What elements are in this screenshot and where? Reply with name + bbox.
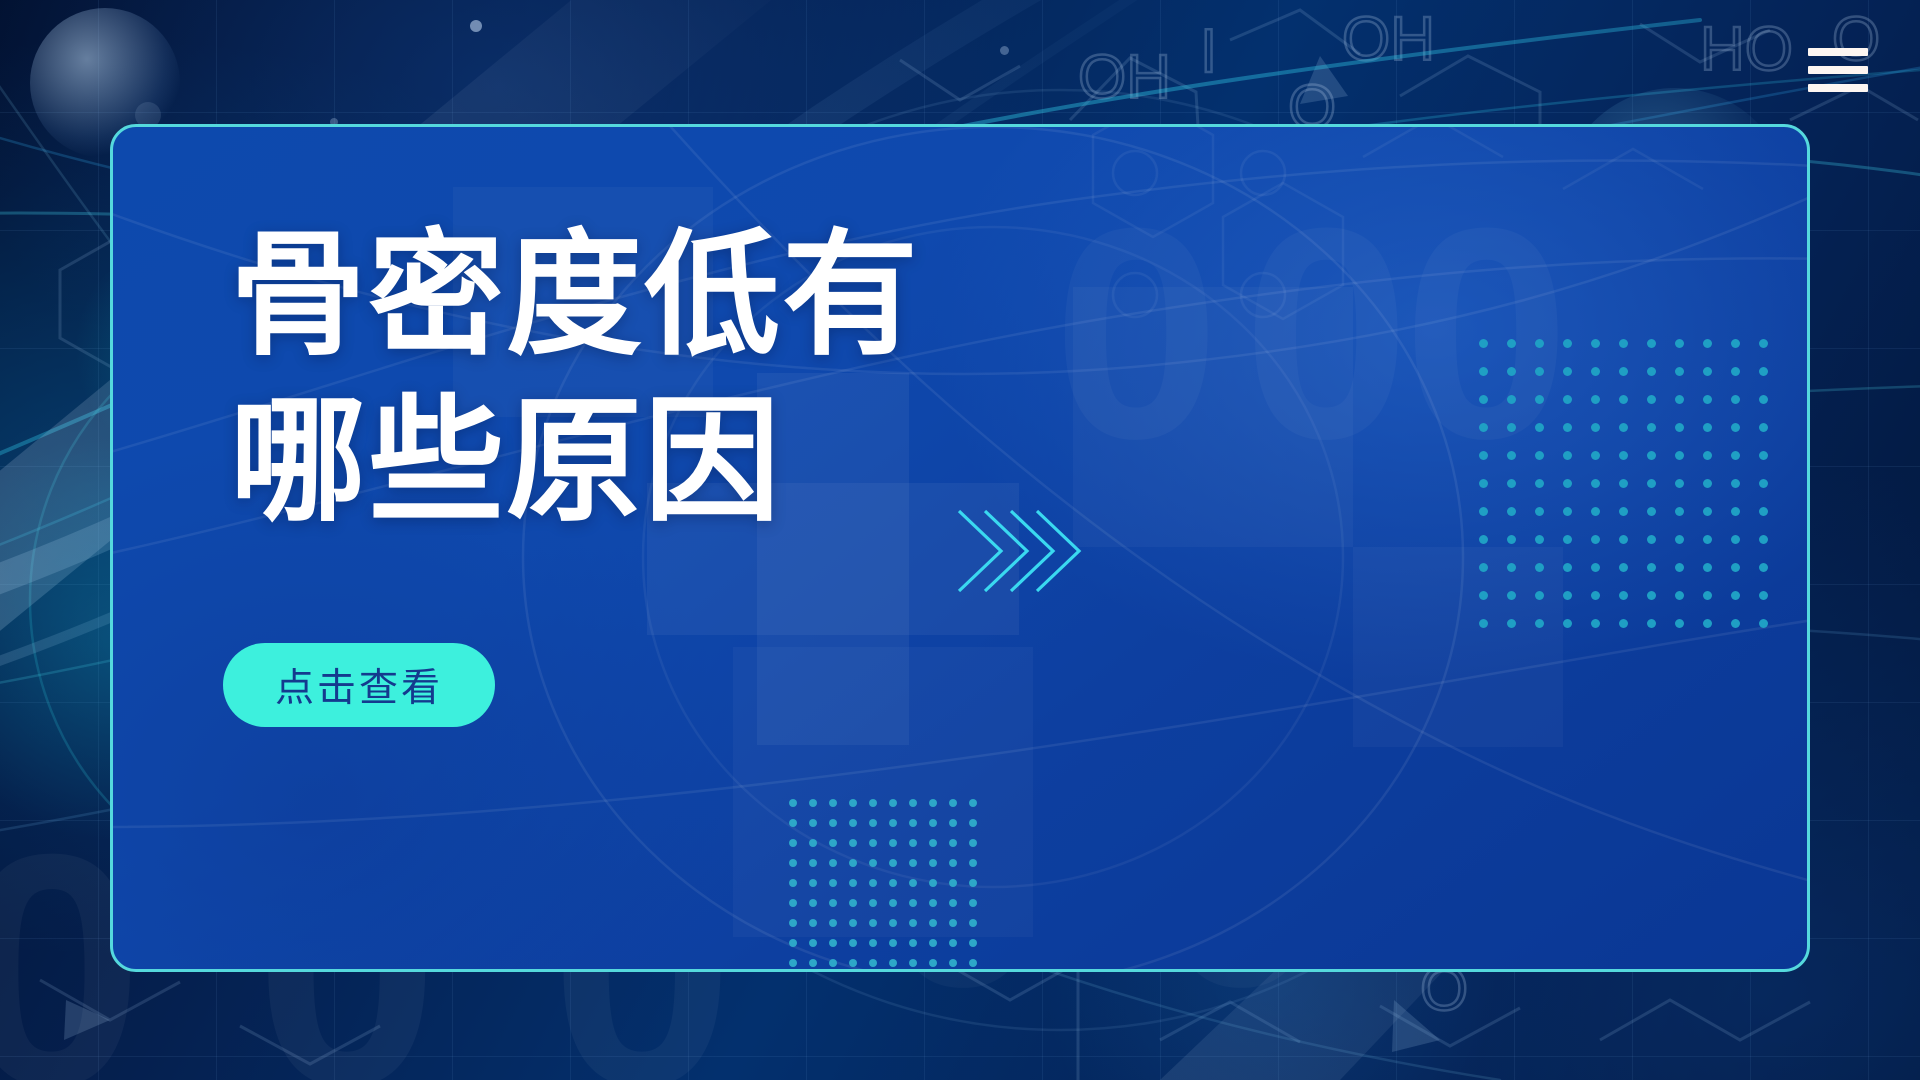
- dot: [909, 959, 917, 967]
- dot: [909, 859, 917, 867]
- dot: [889, 819, 897, 827]
- dot: [1731, 423, 1740, 432]
- dot: [969, 819, 977, 827]
- dot: [1675, 619, 1684, 628]
- dot: [1759, 535, 1768, 544]
- dot: [789, 879, 797, 887]
- dot: [1563, 619, 1572, 628]
- dot: [1703, 619, 1712, 628]
- dot: [929, 959, 937, 967]
- dot: [969, 839, 977, 847]
- dot: [969, 899, 977, 907]
- dot: [969, 879, 977, 887]
- dot: [849, 899, 857, 907]
- dot: [929, 799, 937, 807]
- dot: [1647, 367, 1656, 376]
- dot: [809, 899, 817, 907]
- dot: [1591, 339, 1600, 348]
- dot: [1591, 395, 1600, 404]
- dot: [1619, 535, 1628, 544]
- hamburger-bar: [1808, 66, 1868, 74]
- dot: [1619, 451, 1628, 460]
- dot: [1619, 619, 1628, 628]
- dot: [949, 819, 957, 827]
- dot: [909, 899, 917, 907]
- dot: [869, 859, 877, 867]
- dot: [829, 899, 837, 907]
- dot: [829, 939, 837, 947]
- dot: [889, 939, 897, 947]
- dot: [949, 879, 957, 887]
- dot: [1731, 619, 1740, 628]
- dot: [1647, 619, 1656, 628]
- dot: [1703, 591, 1712, 600]
- dot: [949, 799, 957, 807]
- dot: [1479, 395, 1488, 404]
- dot: [969, 919, 977, 927]
- dot: [1703, 423, 1712, 432]
- slide-canvas: OH OH O I HO HO O O O: [0, 0, 1920, 1080]
- dot: [949, 839, 957, 847]
- dot: [1563, 339, 1572, 348]
- dot: [1507, 367, 1516, 376]
- dot: [949, 859, 957, 867]
- dot: [1507, 563, 1516, 572]
- dot: [929, 899, 937, 907]
- dot: [869, 799, 877, 807]
- dot: [1591, 591, 1600, 600]
- sparkle-dot: [1000, 46, 1009, 55]
- dot: [1619, 367, 1628, 376]
- dot: [1507, 507, 1516, 516]
- dot: [929, 819, 937, 827]
- dot: [849, 819, 857, 827]
- dot: [849, 859, 857, 867]
- dot: [1647, 451, 1656, 460]
- dot: [1647, 591, 1656, 600]
- dot: [1731, 563, 1740, 572]
- dot: [809, 799, 817, 807]
- dot: [1507, 395, 1516, 404]
- dot: [1731, 367, 1740, 376]
- dot: [1563, 507, 1572, 516]
- hamburger-bar: [1808, 84, 1868, 92]
- dot: [1619, 339, 1628, 348]
- dot: [909, 879, 917, 887]
- dot: [1759, 563, 1768, 572]
- dot: [1703, 563, 1712, 572]
- dot: [1759, 591, 1768, 600]
- dot: [1479, 507, 1488, 516]
- dot: [1731, 395, 1740, 404]
- dot: [1507, 479, 1516, 488]
- dot: [969, 939, 977, 947]
- dot: [949, 939, 957, 947]
- dot: [1647, 479, 1656, 488]
- dot: [1507, 451, 1516, 460]
- dot: [1703, 367, 1712, 376]
- dot: [1675, 451, 1684, 460]
- dot: [1535, 591, 1544, 600]
- dot: [849, 939, 857, 947]
- dot: [1675, 479, 1684, 488]
- dot: [809, 859, 817, 867]
- dot: [889, 919, 897, 927]
- dot: [809, 879, 817, 887]
- dot: [1591, 563, 1600, 572]
- dot: [1535, 395, 1544, 404]
- dot: [1647, 563, 1656, 572]
- svg-text:0: 0: [1053, 165, 1220, 501]
- dot: [1507, 339, 1516, 348]
- dot: [1703, 395, 1712, 404]
- dot: [789, 839, 797, 847]
- dot: [1591, 619, 1600, 628]
- dot: [1675, 395, 1684, 404]
- dot: [1675, 507, 1684, 516]
- dot: [1619, 395, 1628, 404]
- dot: [1647, 423, 1656, 432]
- dot: [829, 959, 837, 967]
- dot: [1675, 535, 1684, 544]
- dot: [889, 799, 897, 807]
- dot: [809, 939, 817, 947]
- dot: [1759, 423, 1768, 432]
- dot: [869, 819, 877, 827]
- dot: [1731, 507, 1740, 516]
- dot: [1703, 535, 1712, 544]
- dot: [829, 879, 837, 887]
- dot: [1759, 339, 1768, 348]
- dot: [1535, 339, 1544, 348]
- dot: [1619, 507, 1628, 516]
- dot: [1479, 619, 1488, 628]
- dot: [1591, 367, 1600, 376]
- dot: [889, 859, 897, 867]
- dot: [1759, 451, 1768, 460]
- dot: [789, 959, 797, 967]
- dot: [1703, 479, 1712, 488]
- dot: [829, 799, 837, 807]
- dot: [849, 879, 857, 887]
- dot: [929, 839, 937, 847]
- dot: [1675, 367, 1684, 376]
- dot: [869, 899, 877, 907]
- dot: [829, 839, 837, 847]
- dot: [1759, 507, 1768, 516]
- dot: [1479, 423, 1488, 432]
- dot: [949, 959, 957, 967]
- dot: [869, 839, 877, 847]
- dot: [949, 899, 957, 907]
- dot: [1535, 479, 1544, 488]
- dot: [1619, 423, 1628, 432]
- dot: [1591, 479, 1600, 488]
- dot: [809, 959, 817, 967]
- dot: [1591, 535, 1600, 544]
- page-title: 骨密度低有 哪些原因: [230, 213, 920, 545]
- dot: [1535, 367, 1544, 376]
- dot: [869, 879, 877, 887]
- dot: [889, 959, 897, 967]
- dot: [789, 899, 797, 907]
- dot: [969, 799, 977, 807]
- dot: [1647, 395, 1656, 404]
- dot: [829, 919, 837, 927]
- dot: [849, 959, 857, 967]
- dot: [1647, 507, 1656, 516]
- dot: [1563, 367, 1572, 376]
- dot: [1675, 339, 1684, 348]
- dot: [1535, 563, 1544, 572]
- dot: [1591, 507, 1600, 516]
- dot: [1479, 479, 1488, 488]
- dot: [849, 839, 857, 847]
- dot: [1759, 619, 1768, 628]
- dot: [1703, 507, 1712, 516]
- dot: [1591, 423, 1600, 432]
- dot: [789, 819, 797, 827]
- svg-text:I: I: [1200, 17, 1217, 86]
- dot: [1731, 339, 1740, 348]
- dot: [1479, 339, 1488, 348]
- sparkle-dot: [470, 20, 482, 32]
- dot: [1535, 535, 1544, 544]
- dot: [1731, 479, 1740, 488]
- dot: [1507, 591, 1516, 600]
- dot: [1479, 563, 1488, 572]
- dot: [889, 839, 897, 847]
- dot: [829, 859, 837, 867]
- dot: [829, 819, 837, 827]
- dot: [929, 859, 937, 867]
- dot: [929, 939, 937, 947]
- dot: [1731, 535, 1740, 544]
- dot: [969, 959, 977, 967]
- dot: [1563, 451, 1572, 460]
- dot: [809, 839, 817, 847]
- dot: [1563, 591, 1572, 600]
- dot: [1507, 535, 1516, 544]
- dot: [1535, 423, 1544, 432]
- dot: [1563, 563, 1572, 572]
- dot: [1563, 395, 1572, 404]
- dot: [1675, 563, 1684, 572]
- dot: [1563, 479, 1572, 488]
- dot: [789, 939, 797, 947]
- main-content-card: 0 0 0 骨密度低有 哪些原因 点击查看: [110, 124, 1810, 972]
- dot: [789, 859, 797, 867]
- view-details-button[interactable]: 点击查看: [223, 643, 495, 727]
- dot: [1507, 423, 1516, 432]
- dot: [1647, 339, 1656, 348]
- dot: [1535, 619, 1544, 628]
- dot: [1759, 479, 1768, 488]
- dot: [1731, 451, 1740, 460]
- dot: [1619, 563, 1628, 572]
- dot: [949, 919, 957, 927]
- double-chevron-right-icon: [953, 505, 1125, 597]
- dot: [1563, 535, 1572, 544]
- dot: [1479, 591, 1488, 600]
- svg-text:0: 0: [1403, 165, 1570, 501]
- dot: [909, 799, 917, 807]
- dot: [1759, 367, 1768, 376]
- dot: [929, 879, 937, 887]
- dot: [849, 919, 857, 927]
- dot: [869, 919, 877, 927]
- dot: [789, 919, 797, 927]
- dot: [1647, 535, 1656, 544]
- dot: [1563, 423, 1572, 432]
- dot: [1535, 451, 1544, 460]
- dot: [929, 919, 937, 927]
- dot: [809, 819, 817, 827]
- dot: [1619, 591, 1628, 600]
- hamburger-menu-icon[interactable]: [1808, 48, 1868, 92]
- dot: [969, 859, 977, 867]
- dot: [1507, 619, 1516, 628]
- dot: [909, 919, 917, 927]
- dot: [1479, 451, 1488, 460]
- dot: [1675, 591, 1684, 600]
- dot: [909, 839, 917, 847]
- dot: [809, 919, 817, 927]
- dot: [1591, 451, 1600, 460]
- dot: [789, 799, 797, 807]
- dot: [1703, 339, 1712, 348]
- dot: [909, 819, 917, 827]
- svg-text:0: 0: [1243, 165, 1410, 501]
- dot: [1479, 535, 1488, 544]
- dot: [1479, 367, 1488, 376]
- dot: [869, 959, 877, 967]
- dot: [1675, 423, 1684, 432]
- dot: [869, 939, 877, 947]
- dot: [1703, 451, 1712, 460]
- dot: [1759, 395, 1768, 404]
- dot: [889, 879, 897, 887]
- dot: [1731, 591, 1740, 600]
- dot: [889, 899, 897, 907]
- hamburger-bar: [1808, 48, 1868, 56]
- dot: [909, 939, 917, 947]
- svg-text:HO: HO: [1700, 15, 1793, 84]
- dot: [849, 799, 857, 807]
- dot: [1535, 507, 1544, 516]
- dot: [1619, 479, 1628, 488]
